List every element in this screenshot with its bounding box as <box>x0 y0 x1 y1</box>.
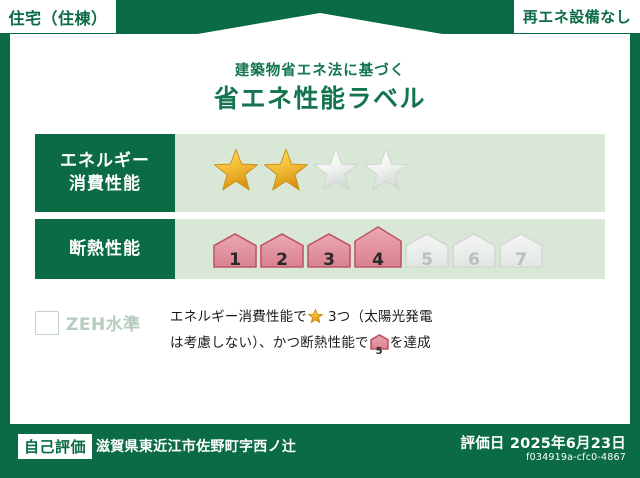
property-address: 滋賀県東近江市佐野町字西ノ辻 <box>96 436 296 456</box>
zeh-standard-block: ZEH水準 エネルギー消費性能で3つ（太陽光発電 は考慮しない）、かつ断熱性能で… <box>35 302 605 357</box>
insulation-level-number: 7 <box>499 252 543 269</box>
zeh-desc-line1-a: エネルギー消費性能で <box>170 309 307 325</box>
insulation-level-1: 1 <box>213 233 257 272</box>
star-rating <box>175 134 605 212</box>
evaluation-date: 評価日 2025年6月23日 <box>461 432 626 453</box>
insulation-level-5: 5 <box>405 233 449 272</box>
insulation-level-4: 4 <box>354 226 402 272</box>
house-badge-icon: 5 <box>370 334 389 358</box>
star-3 <box>313 148 363 198</box>
zeh-label: ZEH水準 <box>66 310 141 335</box>
label-card: 建築物省エネ法に基づく 省エネ性能ラベル エネルギー 消費性能 断熱性能 123… <box>10 34 630 424</box>
evaluation-id: f034919a-cfc0-4867 <box>526 452 626 463</box>
energy-performance-label-cell: エネルギー 消費性能 <box>35 134 175 212</box>
zeh-description: エネルギー消費性能で3つ（太陽光発電 は考慮しない）、かつ断熱性能で5を達成 <box>170 302 433 357</box>
zeh-desc-line1-b: 3つ（太陽光発電 <box>328 309 433 325</box>
building-type-badge: 住宅（住棟） <box>0 0 116 33</box>
insulation-level-number: 1 <box>213 252 257 269</box>
self-evaluation-badge: 自己評価 <box>18 434 92 459</box>
insulation-level-2: 2 <box>260 233 304 272</box>
energy-performance-row: エネルギー 消費性能 <box>35 134 605 212</box>
insulation-level-6: 6 <box>452 233 496 272</box>
insulation-performance-row: 断熱性能 1234567 <box>35 219 605 279</box>
zeh-desc-line2-b: を達成 <box>390 335 431 351</box>
insulation-scale: 1234567 <box>175 219 605 279</box>
label-footer: 自己評価 滋賀県東近江市佐野町字西ノ辻 評価日 2025年6月23日 f0349… <box>0 424 640 478</box>
energy-label-line2: 消費性能 <box>69 173 141 196</box>
zeh-desc-line2-a: は考慮しない）、かつ断熱性能で <box>170 335 369 351</box>
insulation-level-number: 2 <box>260 252 304 269</box>
energy-performance-label: 住宅（住棟） 再エネ設備なし 建築物省エネ法に基づく 省エネ性能ラベル エネルギ… <box>0 0 640 478</box>
insulation-level-number: 3 <box>307 252 351 269</box>
insulation-level-number: 4 <box>354 252 402 269</box>
label-subtitle: 建築物省エネ法に基づく <box>10 59 630 80</box>
page-title: 省エネ性能ラベル <box>10 79 630 115</box>
energy-label-line1: エネルギー <box>60 150 150 173</box>
renewable-energy-badge: 再エネ設備なし <box>514 0 640 33</box>
zeh-checkbox-icon <box>35 311 59 335</box>
star-icon <box>308 309 327 332</box>
star-1 <box>213 148 263 198</box>
insulation-label: 断熱性能 <box>69 238 141 261</box>
insulation-level-number: 5 <box>405 252 449 269</box>
zeh-mark: ZEH水準 <box>35 302 170 335</box>
insulation-level-number: 6 <box>452 252 496 269</box>
star-4 <box>363 148 413 198</box>
insulation-performance-label-cell: 断熱性能 <box>35 219 175 279</box>
star-2 <box>263 148 313 198</box>
insulation-level-3: 3 <box>307 233 351 272</box>
insulation-level-7: 7 <box>499 233 543 272</box>
